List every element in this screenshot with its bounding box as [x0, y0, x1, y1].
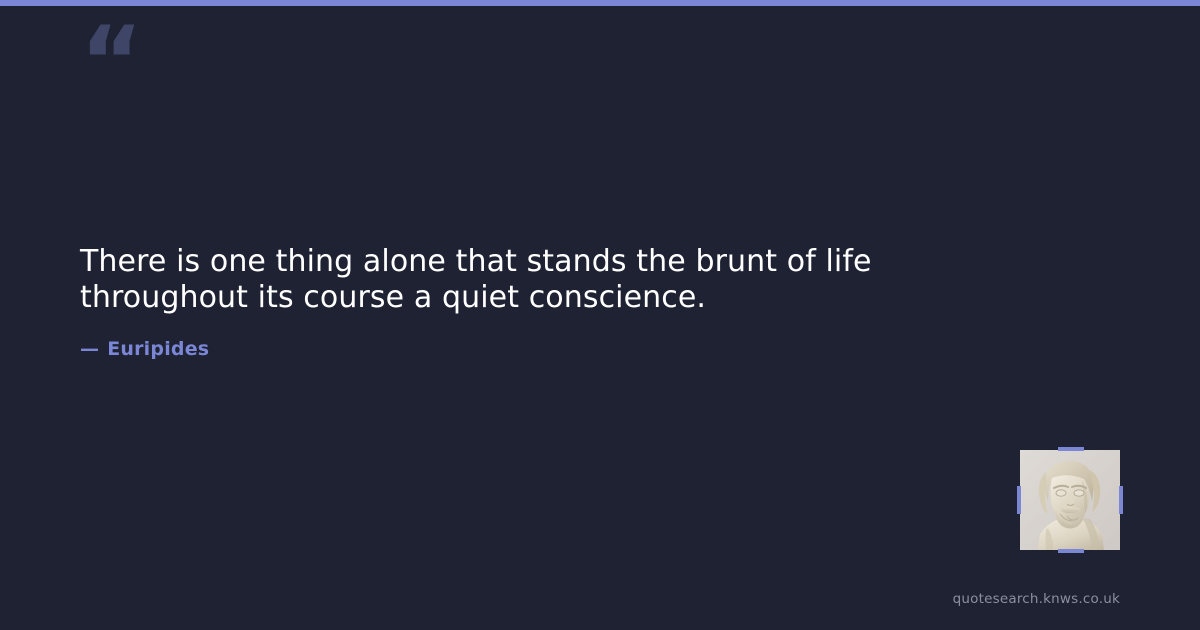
author-portrait: [1020, 450, 1120, 550]
portrait-tick-left-icon: [1017, 486, 1021, 514]
quote-card: “ There is one thing alone that stands t…: [0, 0, 1200, 630]
author-portrait-frame: [1020, 450, 1120, 550]
quote-text-block: There is one thing alone that stands the…: [80, 244, 980, 316]
source-url: quotesearch.knws.co.uk: [953, 591, 1120, 607]
author-name: Euripides: [107, 338, 209, 360]
quotation-mark-icon: “: [80, 14, 141, 110]
attribution-dash: —: [80, 338, 99, 360]
top-accent-bar: [0, 0, 1200, 6]
portrait-tick-top-icon: [1058, 447, 1084, 451]
portrait-tick-bottom-icon: [1058, 549, 1084, 553]
quote-line-1: There is one thing alone that stands the…: [80, 244, 980, 280]
quote-attribution: —Euripides: [80, 338, 209, 360]
quote-line-2: throughout its course a quiet conscience…: [80, 280, 980, 316]
portrait-tick-right-icon: [1119, 486, 1123, 514]
